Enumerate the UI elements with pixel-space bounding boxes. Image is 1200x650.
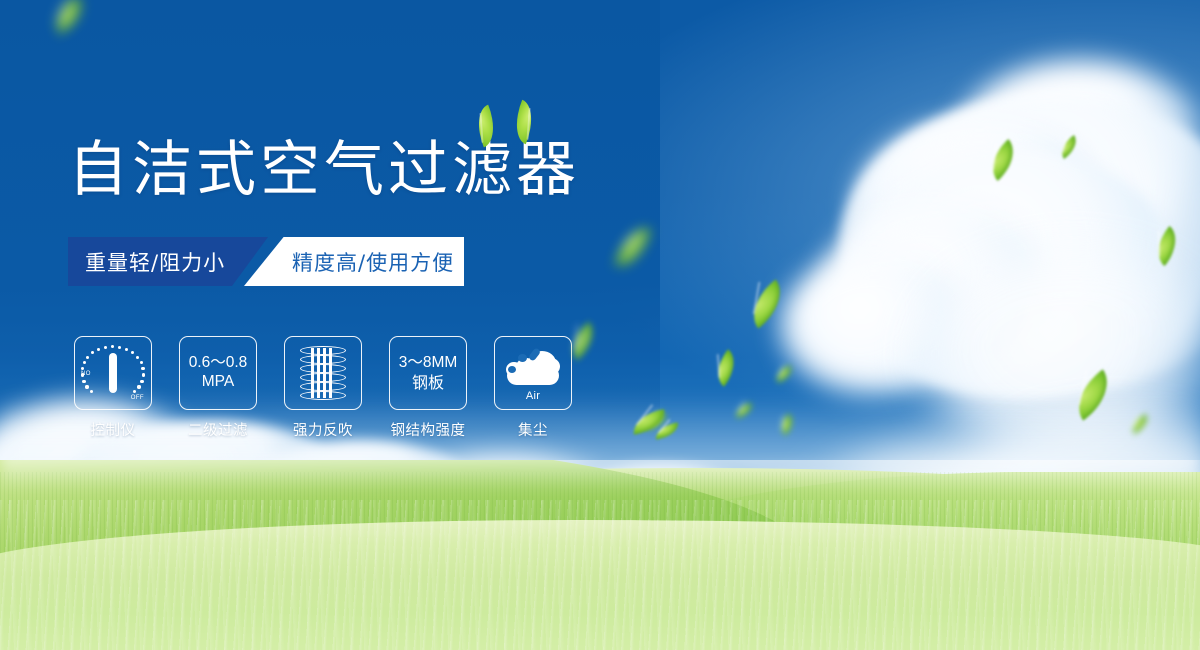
feature-label: 钢结构强度 bbox=[391, 419, 466, 440]
plate-material: 钢板 bbox=[399, 373, 458, 393]
subtitle-secondary-badge: 精度高/使用方便 bbox=[244, 237, 464, 286]
subtitle-secondary-text: 精度高/使用方便 bbox=[244, 247, 454, 277]
feature-label: 二级过滤 bbox=[188, 419, 248, 440]
feature-list: NO OFF 控制仪 0.6～0.8 MPA 二级过滤 bbox=[74, 336, 572, 440]
filter-coil-icon bbox=[297, 344, 349, 402]
feature-label: 强力反吹 bbox=[293, 419, 353, 440]
field-sheen bbox=[0, 500, 1200, 650]
feature-icon-box: 3～8MM 钢板 bbox=[389, 336, 467, 410]
plate-thickness: 3～8MM bbox=[399, 354, 458, 373]
feature-label: 集尘 bbox=[518, 419, 548, 440]
grass-field bbox=[0, 460, 1200, 650]
gauge-icon: NO OFF bbox=[82, 344, 144, 402]
gauge-label-no: NO bbox=[81, 371, 91, 377]
feature-icon-box: NO OFF bbox=[74, 336, 152, 410]
gauge-needle bbox=[109, 353, 117, 393]
pressure-range: 0.6～0.8 bbox=[189, 354, 248, 373]
subtitle-primary-text: 重量轻/阻力小 bbox=[68, 247, 225, 277]
feature-item-dust-collection[interactable]: Air 集尘 bbox=[494, 336, 572, 440]
subtitle-bar: 重量轻/阻力小 精度高/使用方便 bbox=[68, 237, 464, 286]
feature-icon-box bbox=[284, 336, 362, 410]
feature-label: 控制仪 bbox=[91, 419, 136, 440]
plate-text-icon: 3～8MM 钢板 bbox=[399, 354, 458, 392]
air-label: Air bbox=[502, 390, 564, 402]
pressure-unit: MPA bbox=[189, 373, 248, 392]
feature-icon-box: 0.6～0.8 MPA bbox=[179, 336, 257, 410]
feature-item-steel-strength[interactable]: 3～8MM 钢板 钢结构强度 bbox=[389, 336, 467, 440]
feature-item-two-stage-filter[interactable]: 0.6～0.8 MPA 二级过滤 bbox=[179, 336, 257, 440]
air-cloud-icon: Air bbox=[502, 345, 564, 401]
subtitle-primary-badge: 重量轻/阻力小 bbox=[68, 237, 268, 286]
gauge-label-off: OFF bbox=[131, 395, 144, 401]
horizon-glow bbox=[0, 460, 1200, 492]
feature-icon-box: Air bbox=[494, 336, 572, 410]
feature-item-strong-backblow[interactable]: 强力反吹 bbox=[284, 336, 362, 440]
title-block: 自洁式空气过滤器 bbox=[68, 140, 580, 200]
product-banner: 自洁式空气过滤器 重量轻/阻力小 精度高/使用方便 bbox=[0, 0, 1200, 650]
page-title: 自洁式空气过滤器 bbox=[68, 140, 580, 200]
pressure-text-icon: 0.6～0.8 MPA bbox=[189, 354, 248, 392]
feature-item-controller[interactable]: NO OFF 控制仪 bbox=[74, 336, 152, 440]
